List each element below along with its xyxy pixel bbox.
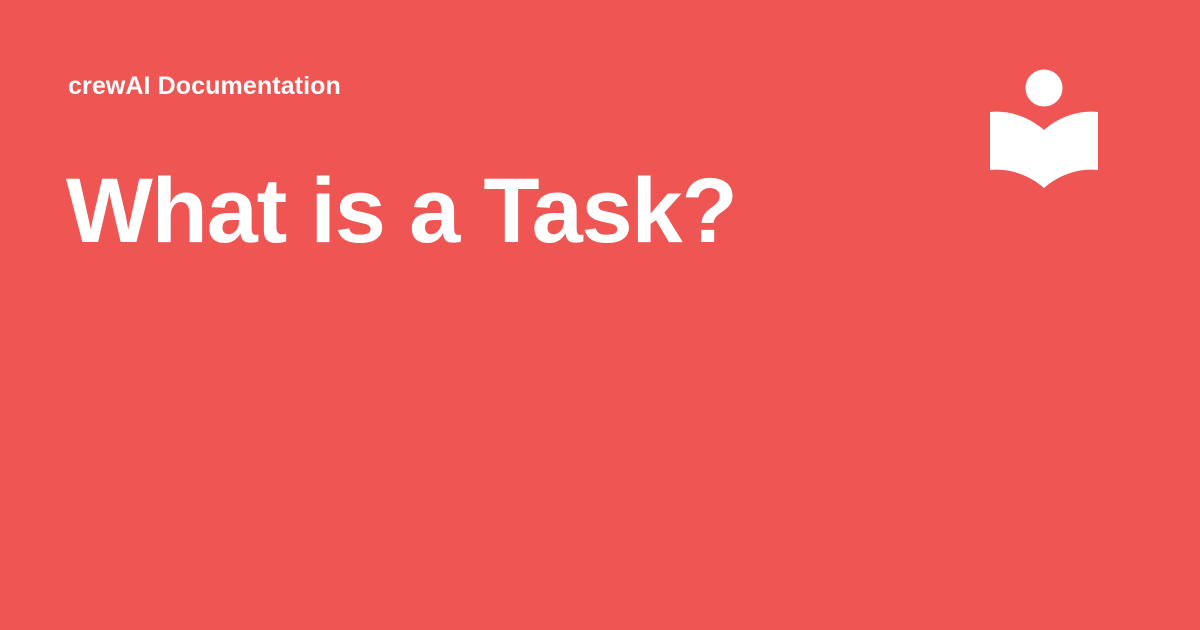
social-preview-card: crewAI Documentation What is a Task? [0, 0, 1200, 630]
site-name-label: crewAI Documentation [68, 72, 341, 101]
page-title: What is a Task? [66, 162, 966, 261]
person-reading-book-icon [988, 66, 1100, 190]
site-logo [988, 66, 1100, 190]
